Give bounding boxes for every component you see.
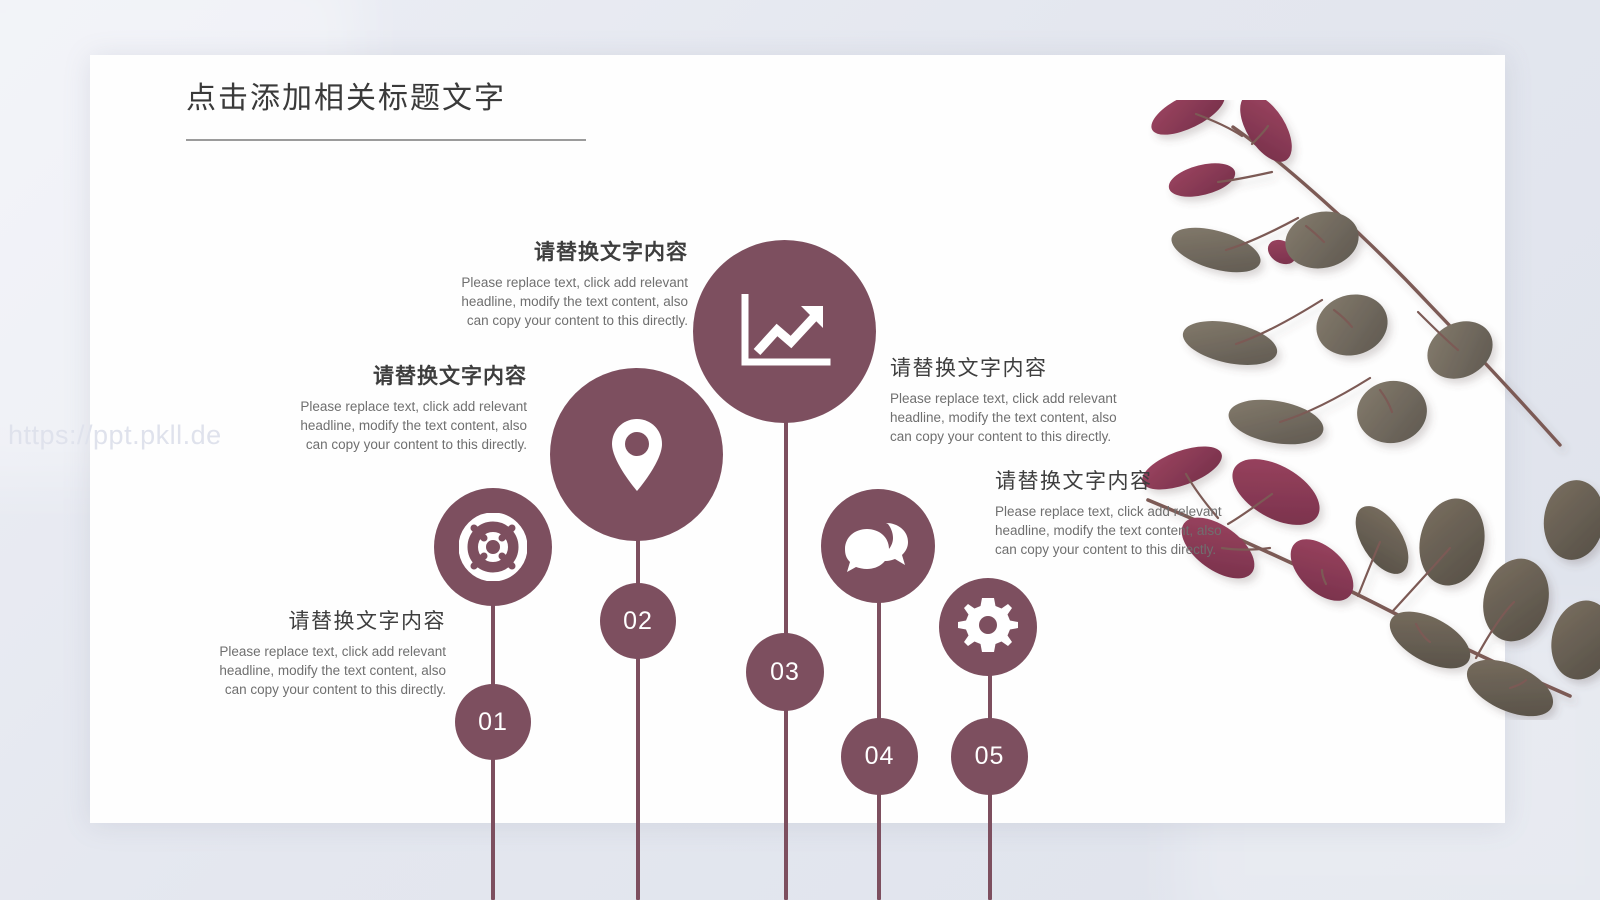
number-circle-04[interactable]: 04 xyxy=(841,718,918,795)
icon-circle-03[interactable] xyxy=(693,240,876,423)
chat-bubbles-icon xyxy=(844,517,912,575)
lifebuoy-icon xyxy=(459,513,527,581)
text-block-01: 请替换文字内容 Please replace text, click add r… xyxy=(206,605,446,699)
number-circle-03[interactable]: 03 xyxy=(746,633,824,711)
item-body-03: Please replace text, click add relevant … xyxy=(448,273,688,330)
map-pin-icon xyxy=(610,417,664,493)
icon-circle-01[interactable] xyxy=(434,488,552,606)
text-block-03: 请替换文字内容 Please replace text, click add r… xyxy=(448,236,688,330)
item-body-05: Please replace text, click add relevant … xyxy=(995,502,1245,559)
item-heading-04: 请替换文字内容 xyxy=(890,352,1140,382)
text-block-04: 请替换文字内容 Please replace text, click add r… xyxy=(890,352,1140,446)
number-label-02: 02 xyxy=(623,607,653,636)
number-circle-01[interactable]: 01 xyxy=(455,684,531,760)
text-block-05: 请替换文字内容 Please replace text, click add r… xyxy=(995,465,1245,559)
number-label-03: 03 xyxy=(770,658,800,687)
item-heading-03: 请替换文字内容 xyxy=(448,236,688,266)
item-heading-05: 请替换文字内容 xyxy=(995,465,1245,495)
watermark-text: https://ppt.pkll.de xyxy=(8,420,222,451)
number-circle-02[interactable]: 02 xyxy=(600,583,676,659)
icon-circle-04[interactable] xyxy=(821,489,935,603)
item-body-01: Please replace text, click add relevant … xyxy=(206,642,446,699)
item-body-02: Please replace text, click add relevant … xyxy=(287,397,527,454)
title-block: 点击添加相关标题文字 xyxy=(186,73,586,141)
title-divider xyxy=(186,139,586,141)
item-heading-02: 请替换文字内容 xyxy=(287,360,527,390)
number-label-01: 01 xyxy=(478,708,508,737)
icon-circle-02[interactable] xyxy=(550,368,723,541)
number-label-04: 04 xyxy=(865,742,895,771)
item-body-04: Please replace text, click add relevant … xyxy=(890,389,1140,446)
text-block-02: 请替换文字内容 Please replace text, click add r… xyxy=(287,360,527,454)
slide-stage: https://ppt.pkll.de 点击添加相关标题文字 xyxy=(0,0,1600,900)
number-circle-05[interactable]: 05 xyxy=(951,718,1028,795)
stem-03 xyxy=(784,340,788,900)
number-label-05: 05 xyxy=(975,742,1005,771)
item-heading-01: 请替换文字内容 xyxy=(206,605,446,635)
icon-circle-05[interactable] xyxy=(939,578,1037,676)
line-chart-icon xyxy=(739,294,831,370)
page-title: 点击添加相关标题文字 xyxy=(186,73,586,117)
gear-icon xyxy=(958,597,1018,657)
